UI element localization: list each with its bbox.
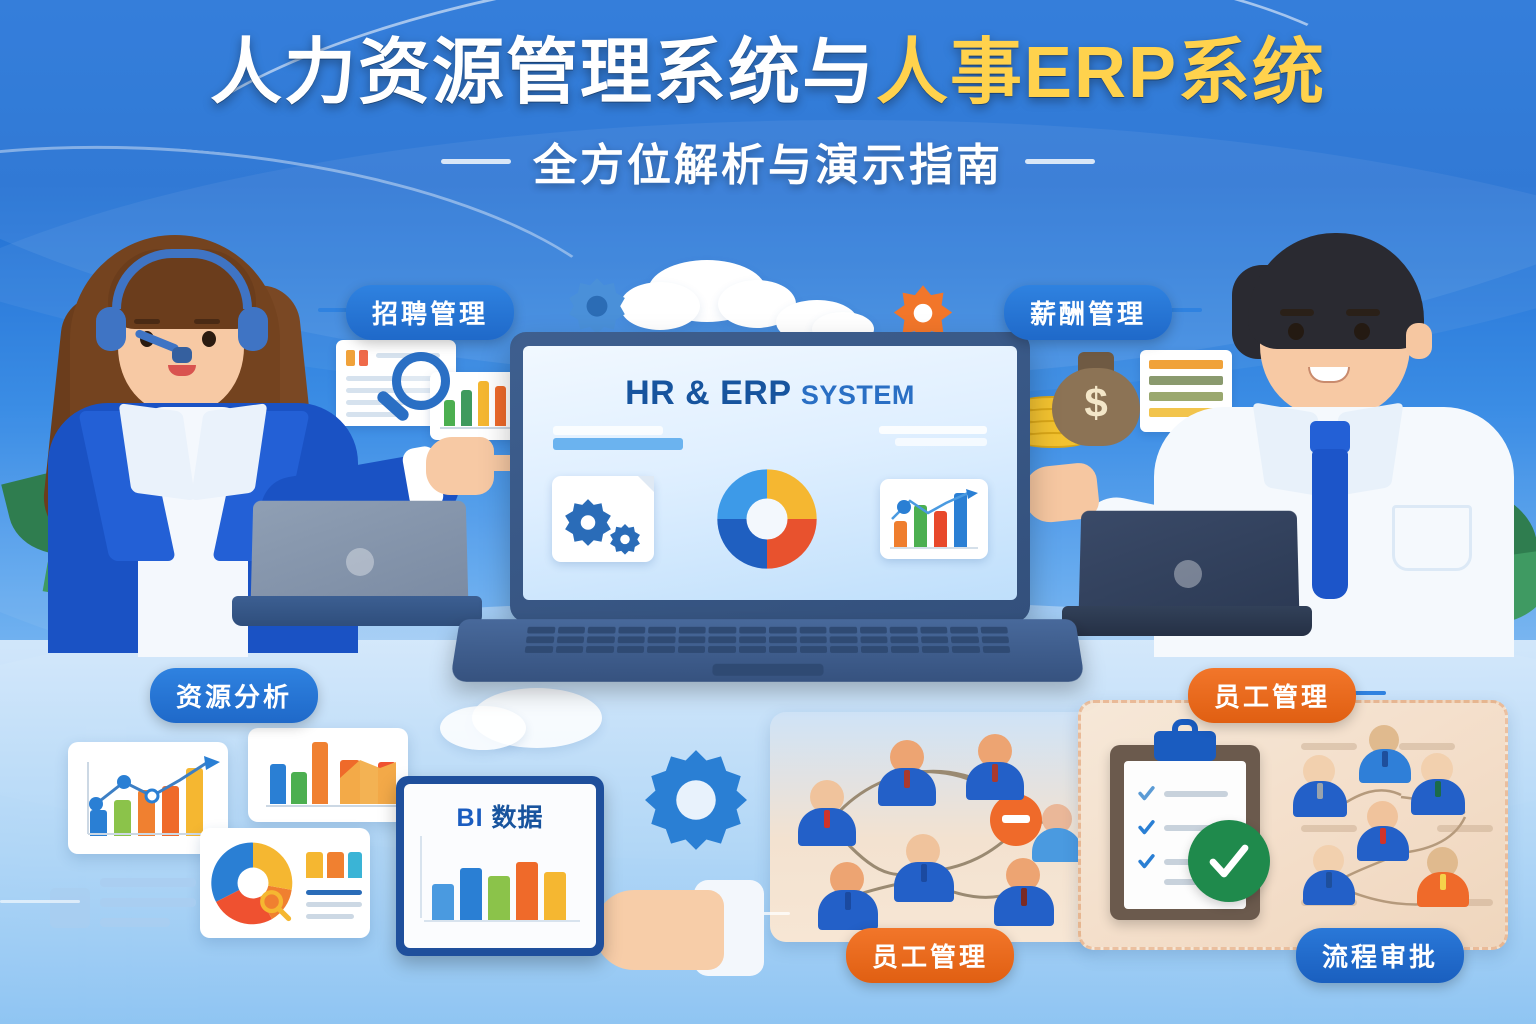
check-icon-large <box>1205 837 1253 885</box>
check-icon-1 <box>1138 785 1155 802</box>
tablet-heading-strong: BI <box>457 804 484 832</box>
analytics-card-donut[interactable] <box>200 828 370 938</box>
tablet-screen[interactable]: BI 数据 <box>404 784 596 948</box>
screen-heading: HR & ERP SYSTEM <box>523 374 1017 413</box>
gear-icon-small-card <box>608 522 642 556</box>
badge-connector-payroll <box>1168 308 1202 312</box>
main-laptop: HR & ERP SYSTEM <box>455 332 1080 702</box>
laptop-screen[interactable]: HR & ERP SYSTEM <box>523 346 1017 600</box>
check-icon-2 <box>1138 819 1155 836</box>
gear-icon-big-card <box>562 496 614 548</box>
badge-analysis[interactable]: 资源分析 <box>150 668 318 723</box>
laptop-right <box>1062 510 1312 640</box>
badge-connector-employee <box>1352 691 1386 695</box>
area-overlay <box>248 728 408 822</box>
check-icon-3 <box>1138 853 1155 870</box>
badge-employee-bottom[interactable]: 员工管理 <box>846 928 1014 983</box>
subtitle-rule-left <box>441 159 511 164</box>
search-icon-analytics <box>258 888 292 922</box>
placeholder-line-3 <box>100 918 170 927</box>
laptop-left <box>232 500 482 630</box>
badge-employee-top[interactable]: 员工管理 <box>1188 668 1356 723</box>
donut-chart-card[interactable] <box>713 465 821 573</box>
header: 人力资源管理系统与人事ERP系统 全方位解析与演示指南 <box>0 34 1536 193</box>
placeholder-block <box>50 888 90 928</box>
donut-chart-icon <box>713 465 821 573</box>
title-yellow-part: 人事ERP系统 <box>876 33 1326 113</box>
laptop-lid: HR & ERP SYSTEM <box>510 332 1030 622</box>
title-white-part: 人力资源管理系统与 <box>210 33 876 113</box>
subtitle-row: 全方位解析与演示指南 <box>0 129 1536 193</box>
keyboard-keys <box>524 627 1011 660</box>
laptop-keyboard[interactable] <box>450 619 1085 682</box>
connector-line-left <box>0 900 80 903</box>
screen-heading-light: SYSTEM <box>801 380 915 410</box>
infographic-canvas: 人力资源管理系统与人事ERP系统 全方位解析与演示指南 招聘管理 薪酬管理 <box>0 0 1536 1024</box>
badge-recruit[interactable]: 招聘管理 <box>346 285 514 340</box>
page-subtitle: 全方位解析与演示指南 <box>533 129 1003 193</box>
tablet-heading-label: 数据 <box>491 804 543 832</box>
analytics-card-bars-area[interactable] <box>248 728 408 822</box>
placeholder-line-2 <box>100 898 196 907</box>
tablet-heading: BI 数据 <box>404 798 596 834</box>
screen-heading-strong: HR & ERP <box>625 374 791 412</box>
badge-payroll[interactable]: 薪酬管理 <box>1004 285 1172 340</box>
subtitle-rule-right <box>1025 159 1095 164</box>
holding-hand <box>594 890 724 970</box>
org-network-panel <box>770 712 1100 942</box>
trend-chart-card[interactable] <box>880 479 988 559</box>
badge-process[interactable]: 流程审批 <box>1296 928 1464 983</box>
page-title: 人力资源管理系统与人事ERP系统 <box>0 34 1536 113</box>
check-circle-icon <box>1188 820 1270 902</box>
cloud-icon-lower-b <box>440 706 526 750</box>
screen-cards-row <box>523 454 1017 584</box>
gear-icon-blue <box>568 276 626 334</box>
laptop-trackpad[interactable] <box>712 664 823 676</box>
cloud-icon-main-b <box>620 282 700 330</box>
settings-card[interactable] <box>552 476 654 562</box>
tablet-device[interactable]: BI 数据 <box>396 776 604 956</box>
gear-icon-large <box>644 748 748 852</box>
placeholder-line-1 <box>100 878 196 887</box>
clipboard-clip-ring <box>1172 719 1198 739</box>
